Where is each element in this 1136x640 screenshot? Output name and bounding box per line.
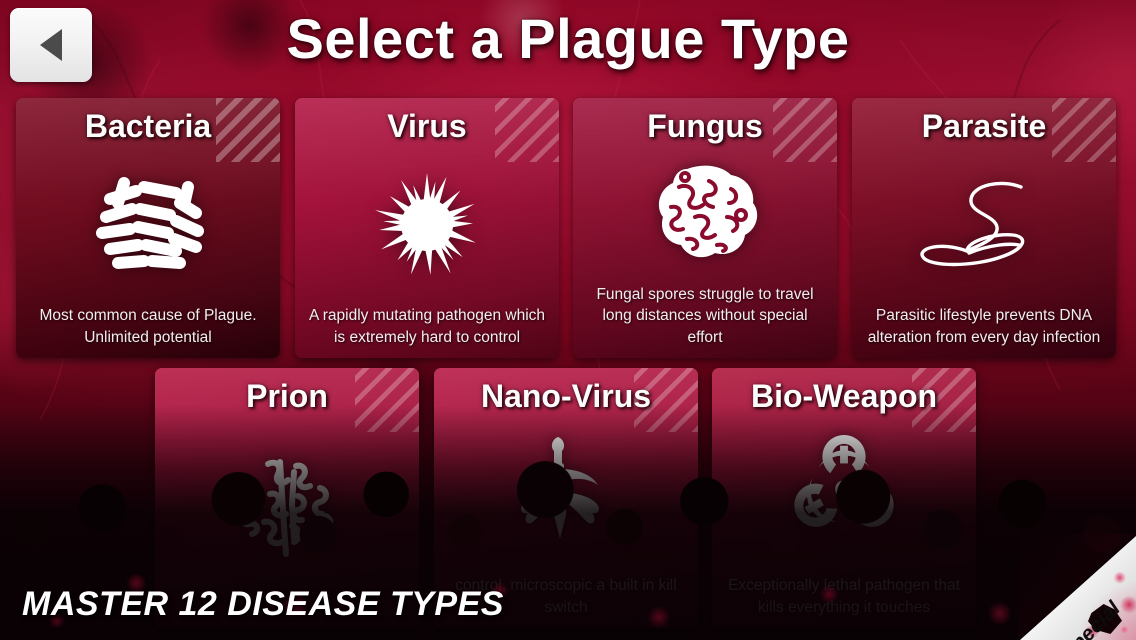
card-description: A rapidly mutating pathogen which is ext…: [295, 305, 559, 358]
plague-card-virus[interactable]: Virus: [295, 98, 559, 358]
special-badge[interactable]: Special: [1020, 536, 1136, 640]
card-title: Fungus: [647, 108, 763, 145]
card-icon: [16, 145, 280, 305]
parasite-worm-icon: [909, 175, 1059, 275]
card-description: Fungal spores struggle to travel long di…: [573, 284, 837, 358]
plague-card-bacteria[interactable]: Bacteria: [16, 98, 280, 358]
card-title: Bacteria: [85, 108, 211, 145]
plague-type-select-screen: Select a Plague Type Bacteria: [0, 0, 1136, 640]
promo-banner: MASTER 12 DISEASE TYPES: [22, 585, 504, 624]
back-arrow-icon: [40, 29, 62, 61]
card-description: Most common cause of Plague. Unlimited p…: [16, 305, 280, 358]
plague-card-parasite[interactable]: Parasite Parasitic lifestyle prevents DN…: [852, 98, 1116, 358]
card-title: Virus: [387, 108, 466, 145]
bacteria-rods-icon: [84, 169, 212, 281]
fungus-cluster-icon: [643, 161, 767, 267]
card-title: Parasite: [922, 108, 1047, 145]
card-icon: [295, 145, 559, 305]
card-description: Parasitic lifestyle prevents DNA alterat…: [852, 305, 1116, 358]
virus-spiked-sphere-icon: [367, 169, 487, 281]
back-button[interactable]: [10, 8, 92, 82]
card-icon: [852, 145, 1116, 305]
card-icon: [573, 145, 837, 284]
plague-card-fungus[interactable]: Fungus: [573, 98, 837, 358]
